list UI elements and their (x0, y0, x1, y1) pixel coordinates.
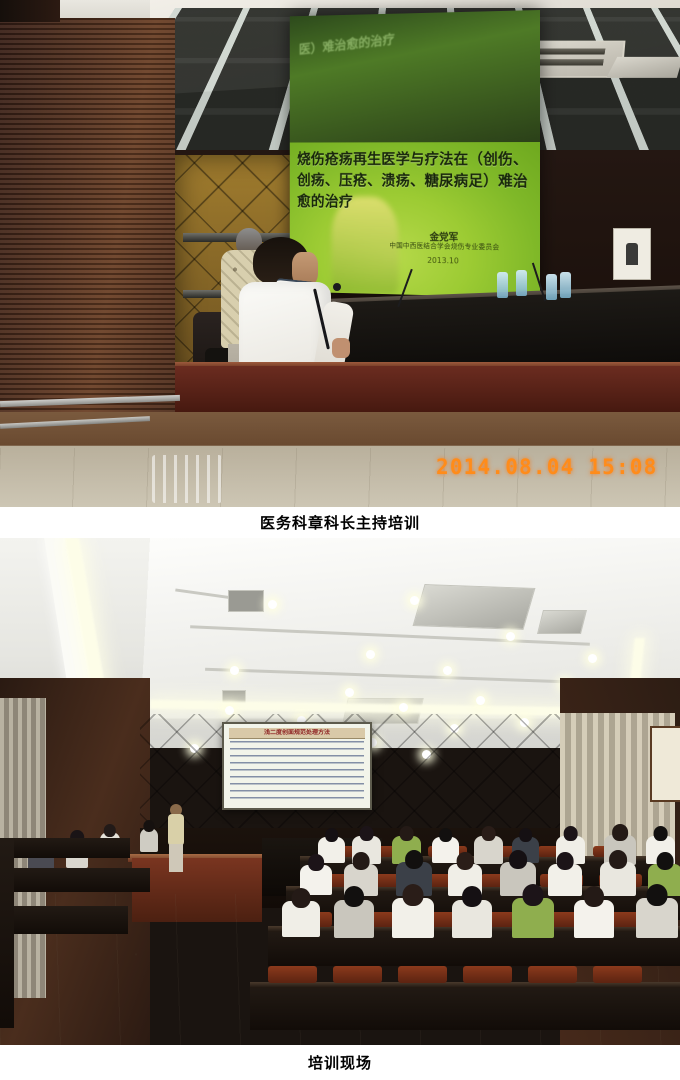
audience-desk-row (0, 838, 14, 1028)
audience-member (282, 888, 320, 932)
slide-title: 烧伤疮疡再生医学与疗法在（创伤、创疡、压疮、溃疡、糖尿病足）难治愈的治疗 (297, 148, 531, 214)
microphone-head-icon (333, 283, 341, 291)
audience-member-head (609, 850, 627, 869)
framed-wall-notice (650, 726, 680, 802)
projection-screen-top: 医）难治愈的治疗 烧伤疮疡再生医学与疗法在（创伤、创疡、压疮、溃疡、糖尿病足）难… (290, 10, 540, 298)
audience-member-head (647, 884, 668, 906)
timestamp-top: 2014.08.04 15:08 (436, 455, 658, 479)
ceiling-vent-icon (537, 610, 587, 634)
audience-member-head (509, 850, 527, 869)
audience-member (392, 884, 434, 932)
audience-member-head (584, 886, 604, 907)
audience-member-head (656, 852, 673, 870)
audience-member-head (352, 852, 369, 870)
audience-member-head (439, 828, 453, 842)
slide-ghost-text: 医）难治愈的治疗 (299, 14, 530, 61)
audience-member-head (481, 826, 496, 841)
audience-member (636, 884, 678, 932)
audience-desk-row (250, 986, 680, 1030)
audience-seat-back (593, 966, 642, 983)
slide-organization: 中国中西医结合学会烧伤专业委员会 (355, 240, 536, 253)
slide-body-text (230, 741, 364, 802)
caption-bottom: 培训现场 (0, 1047, 680, 1080)
audience-member-head (399, 826, 414, 841)
presenter-hand (332, 338, 350, 358)
photo-top: 医）难治愈的治疗 烧伤疮疡再生医学与疗法在（创伤、创疡、压疮、溃疡、糖尿病足）难… (0, 0, 680, 507)
audience-desk-row (0, 838, 130, 858)
audience-member-head (462, 886, 482, 907)
audience-member-head (653, 826, 668, 841)
ceiling-ac-cassette-icon (413, 584, 536, 630)
wall-top-shadow (0, 0, 60, 22)
audience-seat-back (528, 966, 577, 983)
ceiling-vent-icon (228, 590, 264, 612)
downlight-icon (366, 650, 375, 659)
audience-member-head (359, 826, 374, 841)
audience-seat-back (268, 966, 317, 983)
downlight-icon (506, 632, 515, 641)
downlight-icon (399, 703, 408, 712)
audience-seat-back (398, 966, 447, 983)
screen-upper-reflection: 医）难治愈的治疗 (290, 10, 540, 145)
audience-member-head (308, 854, 324, 871)
audience-member (334, 886, 374, 932)
downlight-icon (476, 696, 485, 705)
projection-screen-bottom: 浅二度创面规范处理方法 (222, 722, 372, 810)
audience-member-head (519, 828, 533, 842)
water-bottle (546, 274, 557, 300)
presenter-body (168, 814, 184, 846)
water-bottle (497, 272, 508, 298)
audience-member-head (612, 824, 628, 841)
downlight-icon (345, 688, 354, 697)
audience-member-head (104, 824, 116, 837)
audience-member-head (403, 884, 424, 906)
audience-member-head (556, 852, 573, 870)
stage-platform (175, 366, 680, 414)
caption-top: 医务科章科长主持培训 (0, 509, 680, 538)
audience-member (574, 886, 614, 932)
audience-member (452, 886, 492, 932)
audience-seat-back (463, 966, 512, 983)
slide-header-bar: 浅二度创面规范处理方法 (229, 728, 365, 739)
audience-member-head (291, 888, 310, 908)
downlight-icon (230, 666, 239, 675)
audience-member-head (523, 884, 544, 906)
slide-title-bottom: 浅二度创面规范处理方法 (229, 728, 365, 737)
audience-member-head (563, 826, 578, 841)
audience-member (140, 820, 158, 844)
audience-member (300, 854, 332, 892)
audience-desk-row (0, 906, 128, 934)
downlight-icon (410, 596, 419, 605)
ceiling-ac-vent-secondary-icon (606, 57, 680, 78)
audience-member-head (456, 852, 473, 870)
water-bottle (560, 272, 571, 298)
audience-seat-back (333, 966, 382, 983)
photo-bottom: 浅二度创面规范处理方法 2014.08.04 15:13 (0, 538, 680, 1045)
audience-desk-row (0, 868, 150, 892)
water-bottle (516, 270, 527, 296)
downlight-icon (268, 600, 277, 609)
presenter-legs (169, 844, 183, 872)
framed-picture (613, 228, 651, 280)
bottled-water-case (152, 455, 222, 503)
audience-member-head (344, 886, 364, 907)
slide-date: 2013.10 (377, 255, 511, 266)
audience-member-head (143, 820, 154, 832)
downlight-icon (443, 666, 452, 675)
photo-document-page: 医）难治愈的治疗 烧伤疮疡再生医学与疗法在（创伤、创疡、压疮、溃疡、糖尿病足）难… (0, 0, 680, 1080)
audience-member-head (405, 850, 423, 869)
audience-member (512, 884, 554, 932)
downlight-icon (588, 654, 597, 663)
audience-member-head (325, 828, 339, 842)
